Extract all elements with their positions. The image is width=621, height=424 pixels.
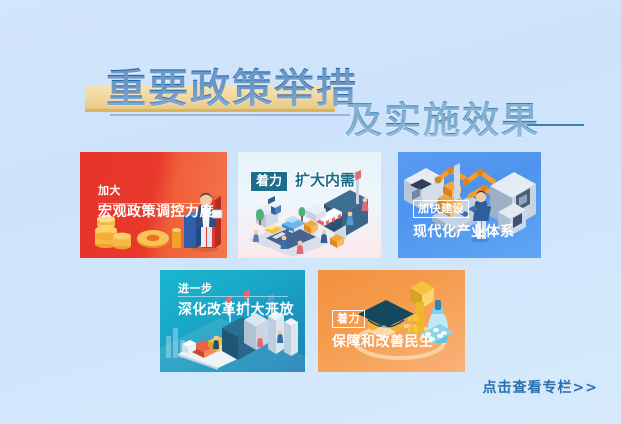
page-title-secondary: 及实施效果	[345, 100, 540, 142]
view-column-link[interactable]: 点击查看专栏>>	[483, 377, 598, 397]
card-3-line1: 加快建设	[413, 200, 469, 218]
card-1-line2: 宏观政策调控力度	[98, 204, 214, 220]
card-2-line1: 着力	[250, 171, 288, 192]
policy-card-livelihood[interactable]: 着力 保障和改善民生	[318, 270, 465, 372]
policy-card-domestic-demand[interactable]: 着力 扩大内需	[238, 152, 381, 258]
isometric-city-consumption-icon	[238, 152, 381, 258]
card-4-line1: 进一步	[178, 282, 213, 295]
banner-title-area: 重要政策举措 及实施效果	[0, 28, 621, 128]
card-4-line2: 深化改革扩大开放	[178, 302, 294, 318]
policy-card-modern-industry[interactable]: 加快建设 现代化产业体系	[398, 152, 541, 258]
policy-card-macro-control[interactable]: 加大 宏观政策调控力度	[80, 152, 227, 258]
card-3-line2: 现代化产业体系	[413, 224, 515, 240]
card-2-line2: 扩大内需	[295, 172, 355, 189]
card-5-line2: 保障和改善民生	[332, 334, 434, 350]
title-right-rule	[527, 124, 584, 126]
card-4-divider	[178, 296, 288, 297]
policy-card-reform-opening[interactable]: 进一步 深化改革扩大开放	[160, 270, 305, 372]
title-underline	[110, 114, 350, 116]
card-5-line1: 着力	[332, 310, 365, 328]
card-1-line1: 加大	[98, 184, 121, 197]
infographic-banner: 重要政策举措 及实施效果	[0, 0, 621, 424]
page-title-primary: 重要政策举措	[106, 66, 358, 112]
